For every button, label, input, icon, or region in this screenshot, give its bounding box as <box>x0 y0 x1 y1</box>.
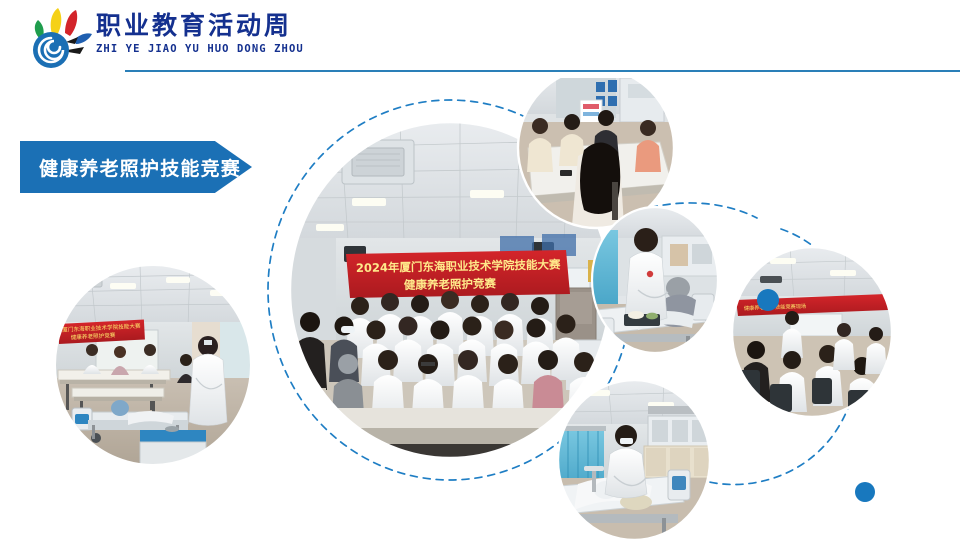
header-divider <box>125 70 960 72</box>
logo-title-cn: 职业教育活动周 <box>96 10 326 41</box>
accent-dot-upper <box>757 289 779 311</box>
competition-red-banner: 2024年厦门东海职业技术学院技能大赛 健康养老照护竞赛 <box>346 250 570 298</box>
svg-text:健康养老照护竞赛: 健康养老照护竞赛 <box>404 276 497 292</box>
accent-dot-lower <box>855 482 875 502</box>
foreground-student <box>572 142 624 231</box>
page-header: 职业教育活动周 ZHI YE JIAO YU HUO DONG ZHOU <box>0 0 960 78</box>
logo-title-pinyin: ZHI YE JIAO YU HUO DONG ZHOU <box>96 42 326 56</box>
supply-cart <box>140 426 206 468</box>
ward-curtains <box>556 426 606 486</box>
medicine-cabinet <box>644 406 710 478</box>
logo-wordmark: 职业教育活动周 ZHI YE JIAO YU HUO DONG ZHOU <box>96 10 326 56</box>
zhiye-pinwheel-spiral-logo-icon <box>22 6 104 72</box>
photo-collage: 厦门东海职业技术学院技能大赛 健康养老照护竞赛 <box>0 78 960 540</box>
slide-root: 职业教育活动周 ZHI YE JIAO YU HUO DONG ZHOU 健康养… <box>0 0 960 540</box>
